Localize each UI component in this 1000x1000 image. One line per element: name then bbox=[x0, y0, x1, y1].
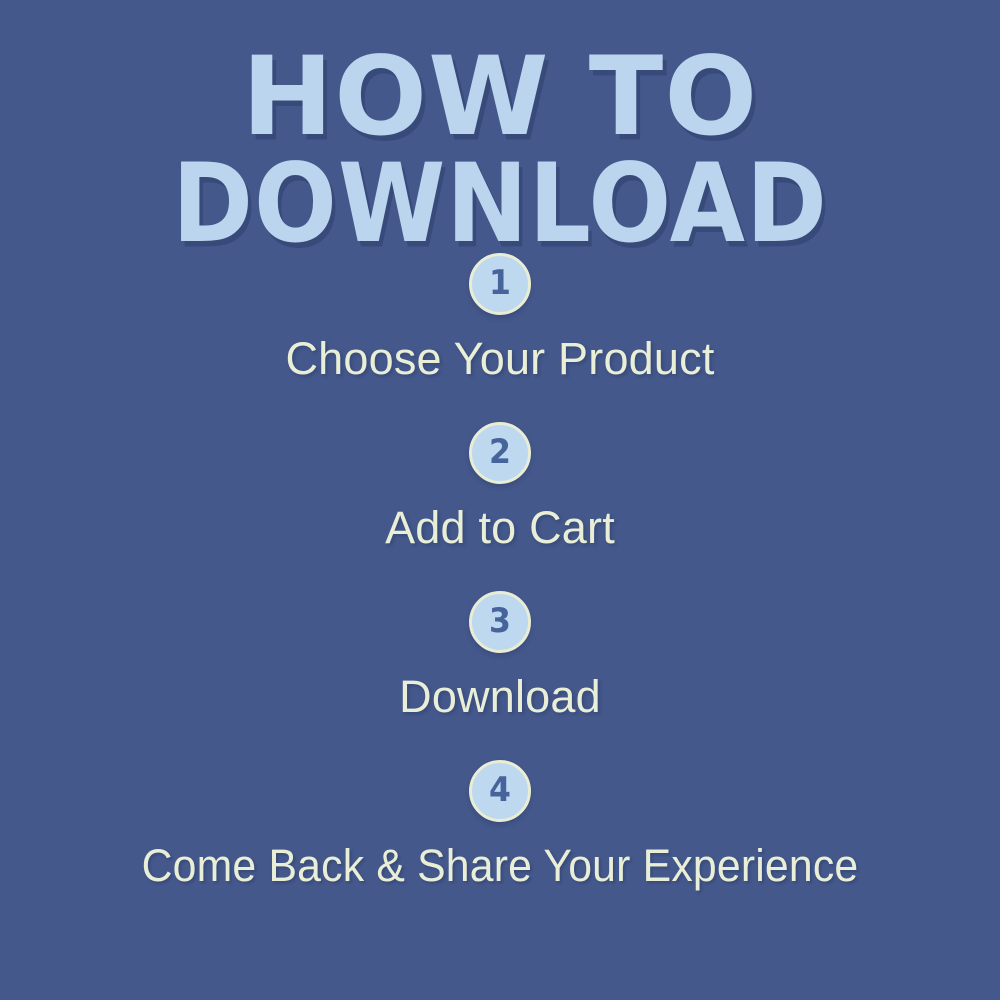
step-number-1: 1 bbox=[471, 253, 530, 316]
step-item-3: 3 Download bbox=[0, 591, 1000, 760]
step-number-4: 4 bbox=[471, 760, 530, 823]
page-title: HOW TO DOWNLOAD bbox=[0, 47, 1000, 232]
step-badge-1: 1 bbox=[469, 253, 531, 315]
step-label-4: Come Back & Share Your Experience bbox=[25, 842, 975, 889]
step-label-3: Download bbox=[0, 673, 1000, 720]
page-title-line-2: DOWNLOAD bbox=[0, 154, 1000, 254]
step-badge-2: 2 bbox=[469, 422, 531, 484]
step-item-1: 1 Choose Your Product bbox=[0, 253, 1000, 422]
step-badge-4: 4 bbox=[469, 760, 531, 822]
page-title-line-1: HOW TO bbox=[0, 47, 1000, 147]
step-number-3: 3 bbox=[471, 591, 530, 654]
step-badge-3: 3 bbox=[469, 591, 531, 653]
how-to-download-poster: HOW TO DOWNLOAD 1 Choose Your Product 2 … bbox=[0, 0, 1000, 1000]
step-item-2: 2 Add to Cart bbox=[0, 422, 1000, 591]
step-label-2: Add to Cart bbox=[0, 504, 1000, 551]
step-item-4: 4 Come Back & Share Your Experience bbox=[0, 760, 1000, 929]
steps-list: 1 Choose Your Product 2 Add to Cart 3 Do… bbox=[0, 253, 1000, 929]
step-number-2: 2 bbox=[471, 422, 530, 485]
step-label-1: Choose Your Product bbox=[0, 335, 1000, 382]
